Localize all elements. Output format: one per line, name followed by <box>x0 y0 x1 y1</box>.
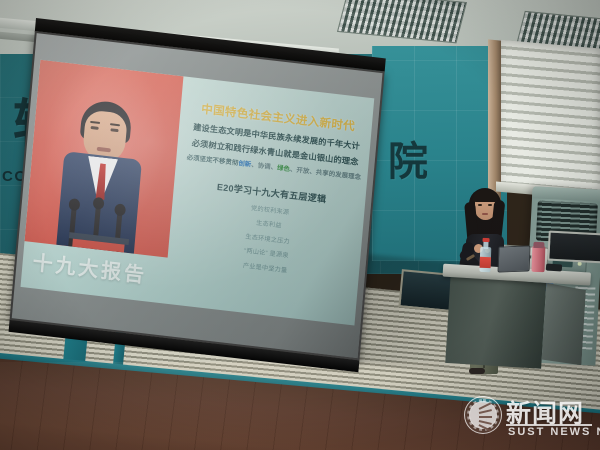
presenter-eye <box>488 204 492 206</box>
podium-front-panel <box>445 277 546 369</box>
keyword-line-suffix: 的发展理念 <box>328 171 361 182</box>
keyword-coordination: 协调 <box>257 162 271 170</box>
presenter-hair-fringe <box>473 190 498 202</box>
water-bottle-label <box>480 257 491 268</box>
secondary-monitor <box>547 231 600 264</box>
thermos-lid <box>533 242 544 248</box>
news-watermark: 新闻网 SUST NEWS NET <box>462 392 594 444</box>
news-logo-rays <box>479 405 499 425</box>
projection-screen: 十九大报告 中国特色社会主义进入新时代 建设生态文明是中华民族永续发展的千年大计… <box>8 18 386 377</box>
wall-sign-right-character: 院 <box>385 140 423 178</box>
presenter-eye <box>478 204 482 206</box>
mobile-phone[interactable] <box>546 263 562 271</box>
keyword-line-prefix: 必须坚定不移贯彻 <box>186 154 238 167</box>
slide-text-block: 中国特色社会主义进入新时代 建设生态文明是中华民族永续发展的千年大计 必须树立和… <box>171 85 373 282</box>
projected-slide: 十九大报告 中国特色社会主义进入新时代 建设生态文明是中华民族永续发展的千年大计… <box>21 60 375 326</box>
air-conditioner-top <box>532 186 600 202</box>
window-blinds <box>498 40 600 199</box>
laptop[interactable] <box>498 245 531 272</box>
water-bottle-cap <box>482 238 489 242</box>
presenter-mouth <box>482 213 488 215</box>
news-watermark-en: SUST NEWS NET <box>508 426 600 438</box>
screenshot-root: 轻 COLLEGE 院 <box>0 0 600 450</box>
keyword-sharing: 共享 <box>316 169 330 177</box>
podium-side-panel <box>541 283 586 365</box>
slide-portrait-photo <box>25 60 184 258</box>
thermos-flask <box>531 242 545 272</box>
keyword-innovation: 创新 <box>238 160 252 168</box>
screen-surface: 十九大报告 中国特色社会主义进入新时代 建设生态文明是中华民族永续发展的千年大计… <box>12 33 383 358</box>
thermos-body <box>531 246 545 272</box>
keyword-openness: 开放 <box>296 167 310 175</box>
water-bottle <box>479 240 491 272</box>
podium <box>437 264 591 377</box>
news-logo-icon <box>464 396 502 434</box>
keyword-green: 绿色 <box>277 165 291 173</box>
portrait-figure <box>52 97 150 254</box>
laptop-screen <box>498 245 531 272</box>
